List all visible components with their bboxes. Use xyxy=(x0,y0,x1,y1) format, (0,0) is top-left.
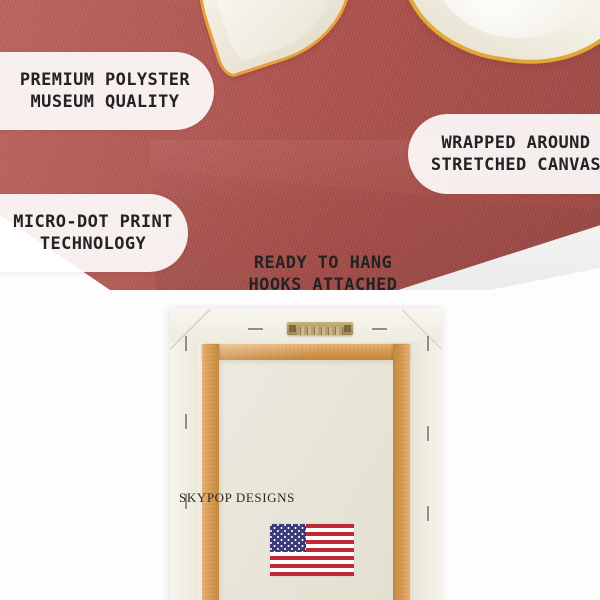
callout-wrapped-line1: WRAPPED AROUND xyxy=(431,132,600,154)
stretcher-bar-top-bevel xyxy=(202,344,410,360)
staple-right-1 xyxy=(427,336,429,351)
callout-micro-dot-print: MICRO-DOT PRINT TECHNOLOGY xyxy=(0,194,188,272)
hanger-screw-hole-right xyxy=(344,325,351,332)
callout-premium-polyster: PREMIUM POLYSTER MUSEUM QUALITY xyxy=(0,52,214,130)
staple-right-3 xyxy=(427,506,429,521)
sawtooth-hanger-icon xyxy=(287,322,353,335)
callout-ready-line1: READY TO HANG xyxy=(228,252,418,274)
product-marketing-image: PREMIUM POLYSTER MUSEUM QUALITY MICRO-DO… xyxy=(0,0,600,600)
callout-ready-to-hang: READY TO HANG HOOKS ATTACHED xyxy=(228,252,418,297)
stretcher-bar-right xyxy=(393,344,410,600)
callout-premium-line1: PREMIUM POLYSTER xyxy=(20,69,190,91)
callout-micro-line2: TECHNOLOGY xyxy=(13,233,173,255)
staple-top-right xyxy=(372,328,387,330)
staple-left-2 xyxy=(185,414,187,429)
wood-grain-left xyxy=(202,344,219,600)
brand-name-label: SKYPOP DESIGNS xyxy=(178,490,296,506)
callout-premium-line2: MUSEUM QUALITY xyxy=(20,91,190,113)
staple-right-2 xyxy=(427,426,429,441)
wood-grain-right xyxy=(393,344,410,600)
callout-wrapped-line2: STRETCHED CANVAS xyxy=(431,154,600,176)
flag-stars xyxy=(270,524,306,552)
callout-ready-line2: HOOKS ATTACHED xyxy=(228,274,418,296)
callout-micro-line1: MICRO-DOT PRINT xyxy=(13,211,173,233)
usa-flag-icon xyxy=(270,524,354,576)
hanger-screw-hole-left xyxy=(289,325,296,332)
hanger-teeth xyxy=(297,327,343,335)
staple-top-left xyxy=(248,328,263,330)
callout-wrapped-around: WRAPPED AROUND STRETCHED CANVAS xyxy=(408,114,600,194)
stretcher-bar-left xyxy=(202,344,219,600)
staple-left-1 xyxy=(185,336,187,351)
